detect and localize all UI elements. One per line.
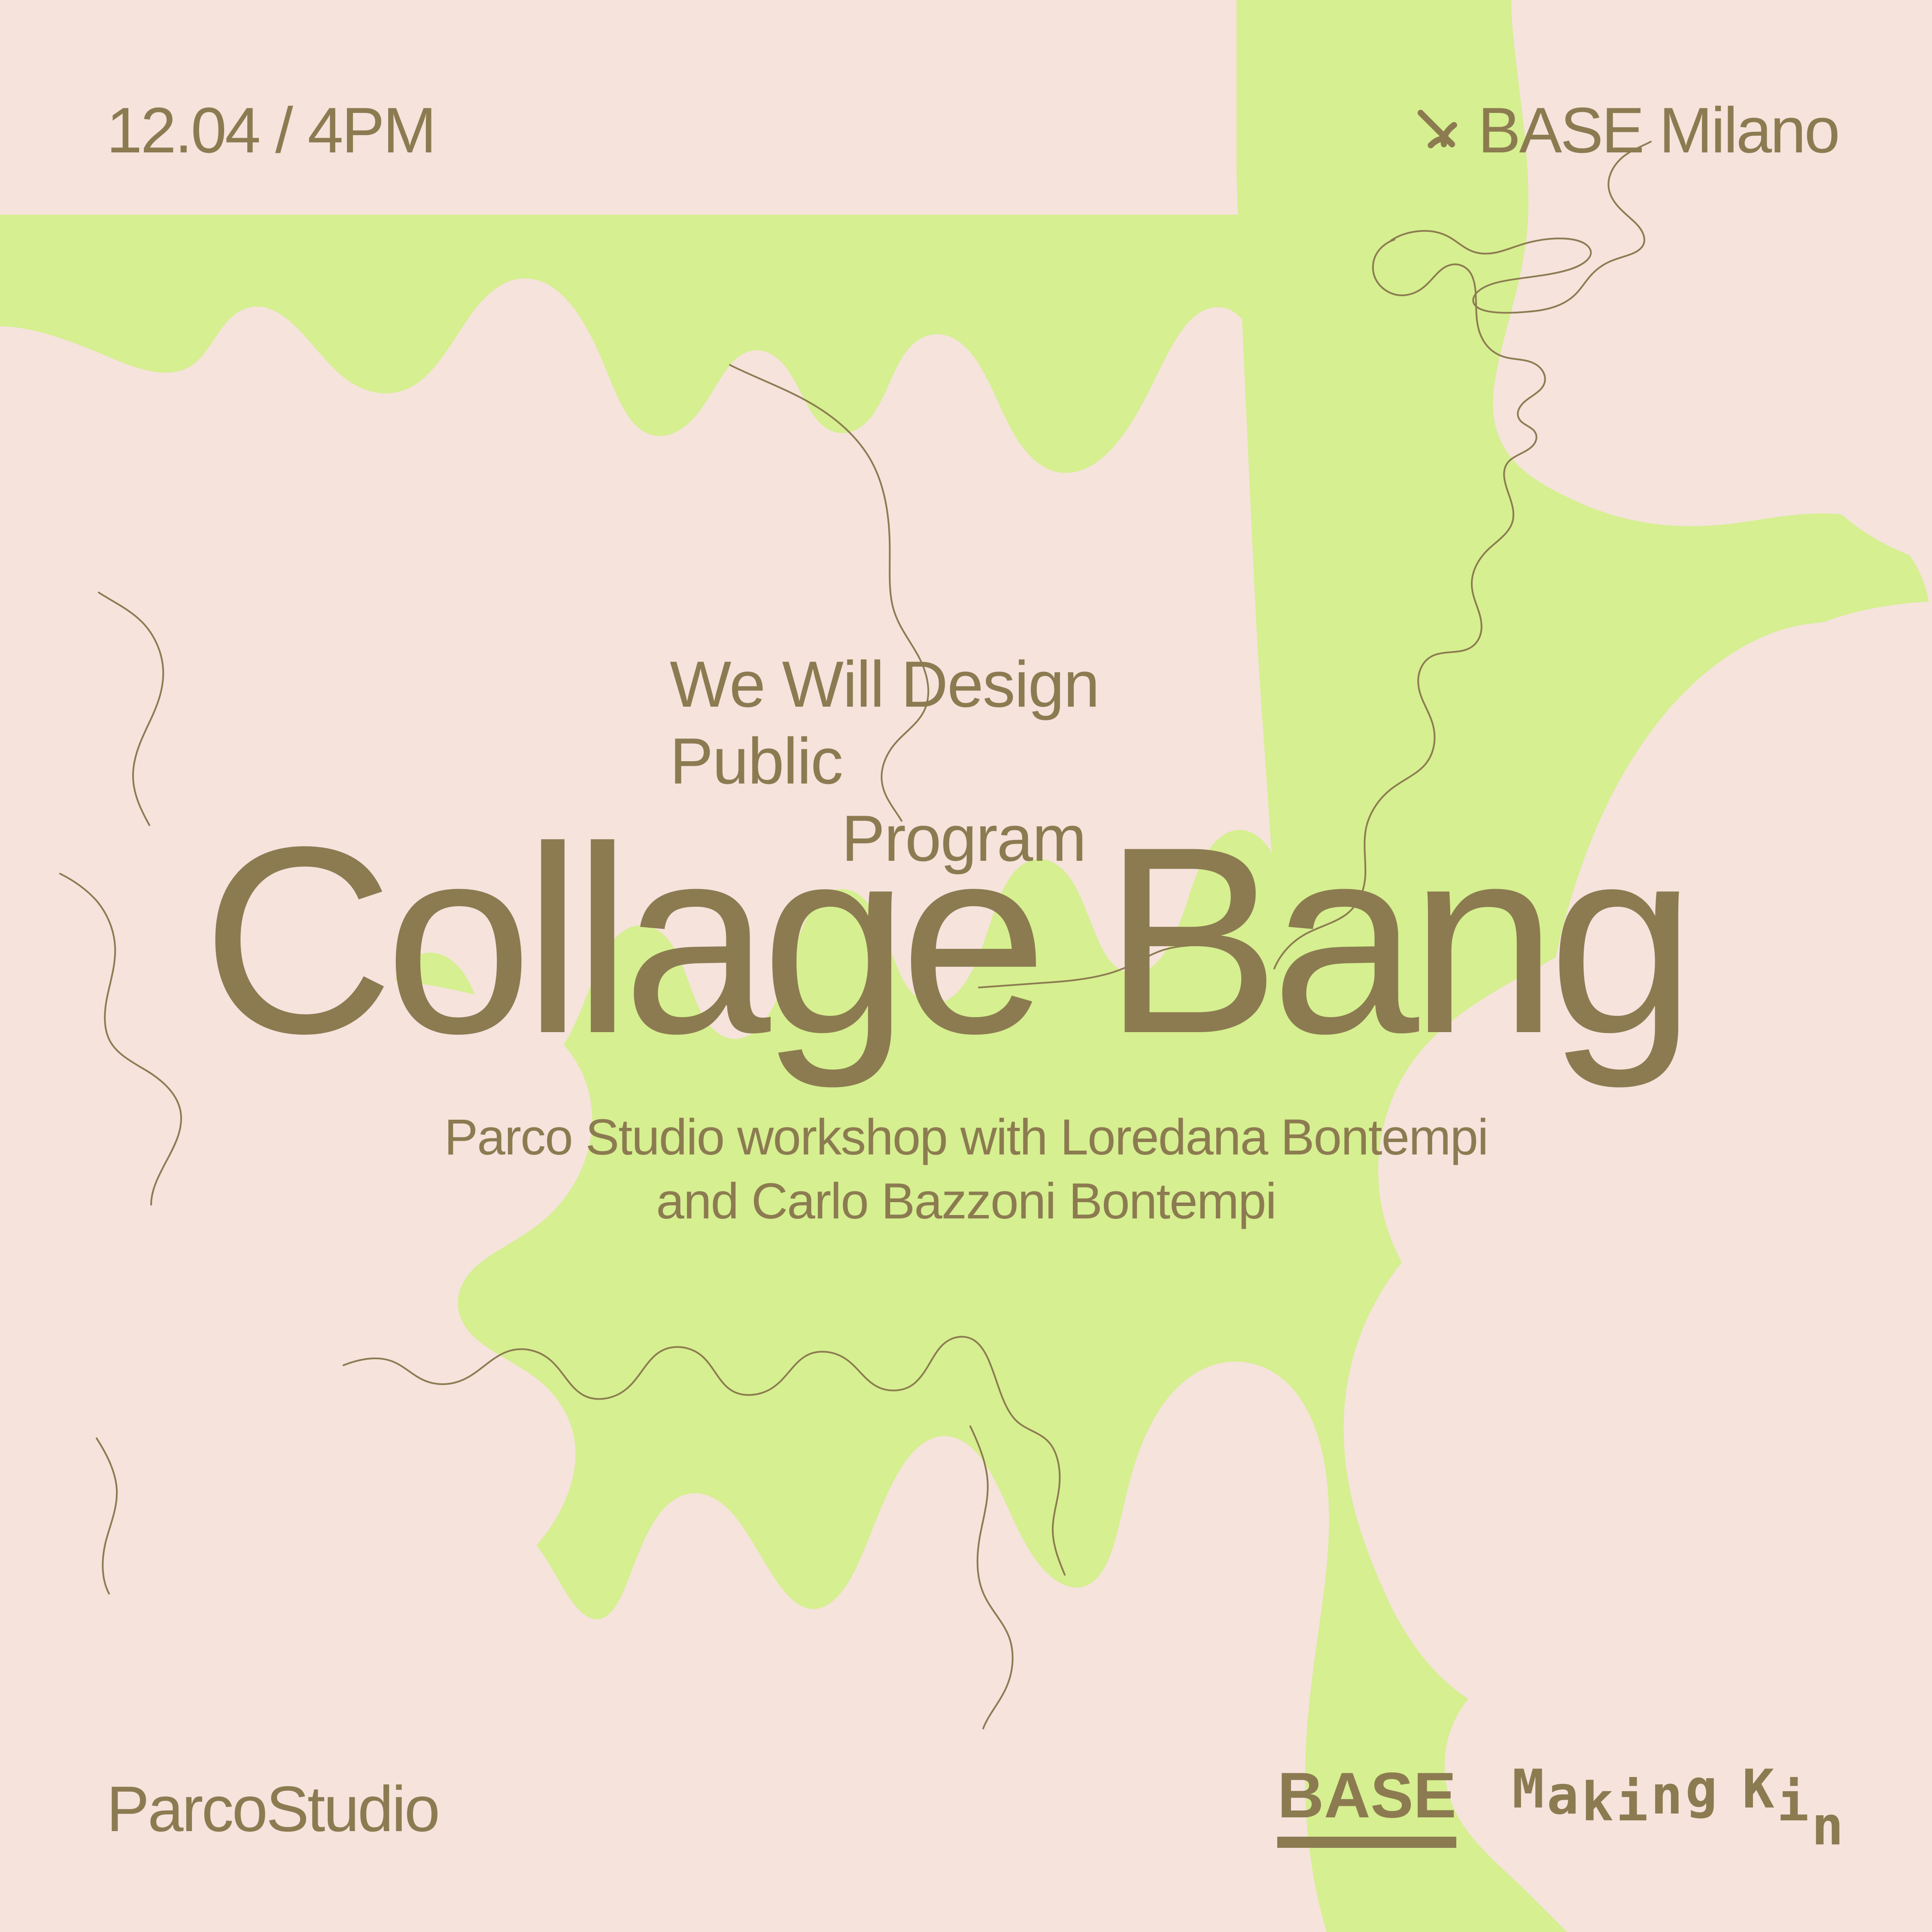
making-kin-letter: i	[1777, 1776, 1812, 1829]
venue-label: BASE Milano	[1478, 98, 1838, 162]
poster-title: Collage Bang	[202, 807, 1687, 1073]
footer-logos: BASE M a k i n g K i n	[1277, 1763, 1846, 1848]
making-kin-letter: M	[1512, 1763, 1547, 1816]
date-time-label: 12.04 / 4PM	[106, 98, 435, 162]
making-kin-letter: K	[1742, 1763, 1777, 1816]
base-logo: BASE	[1277, 1763, 1456, 1848]
making-kin-letter: n	[1651, 1769, 1686, 1822]
eyebrow-line-1: We Will Design	[670, 646, 1099, 723]
making-kin-logo: M a k i n g K i n	[1512, 1763, 1846, 1816]
credits-block: Parco Studio workshop with Loredana Bont…	[0, 1106, 1932, 1233]
credits-line-1: Parco Studio workshop with Loredana Bont…	[0, 1106, 1932, 1170]
making-kin-letter: k	[1581, 1776, 1616, 1829]
making-kin-letter: i	[1616, 1776, 1651, 1829]
credits-line-2: and Carlo Bazzoni Bontempi	[0, 1170, 1932, 1233]
venue-block: BASE Milano	[1413, 98, 1838, 162]
arrow-down-right-icon	[1413, 105, 1463, 155]
making-kin-letter: n	[1811, 1800, 1846, 1853]
parco-studio-logo: ParcoStudio	[106, 1777, 438, 1841]
poster-canvas: 12.04 / 4PM BASE Milano We Will Design P…	[0, 0, 1932, 1932]
making-kin-letter: g	[1685, 1763, 1720, 1816]
eyebrow-line-2: Public	[670, 723, 1099, 800]
making-kin-letter: a	[1547, 1769, 1582, 1822]
